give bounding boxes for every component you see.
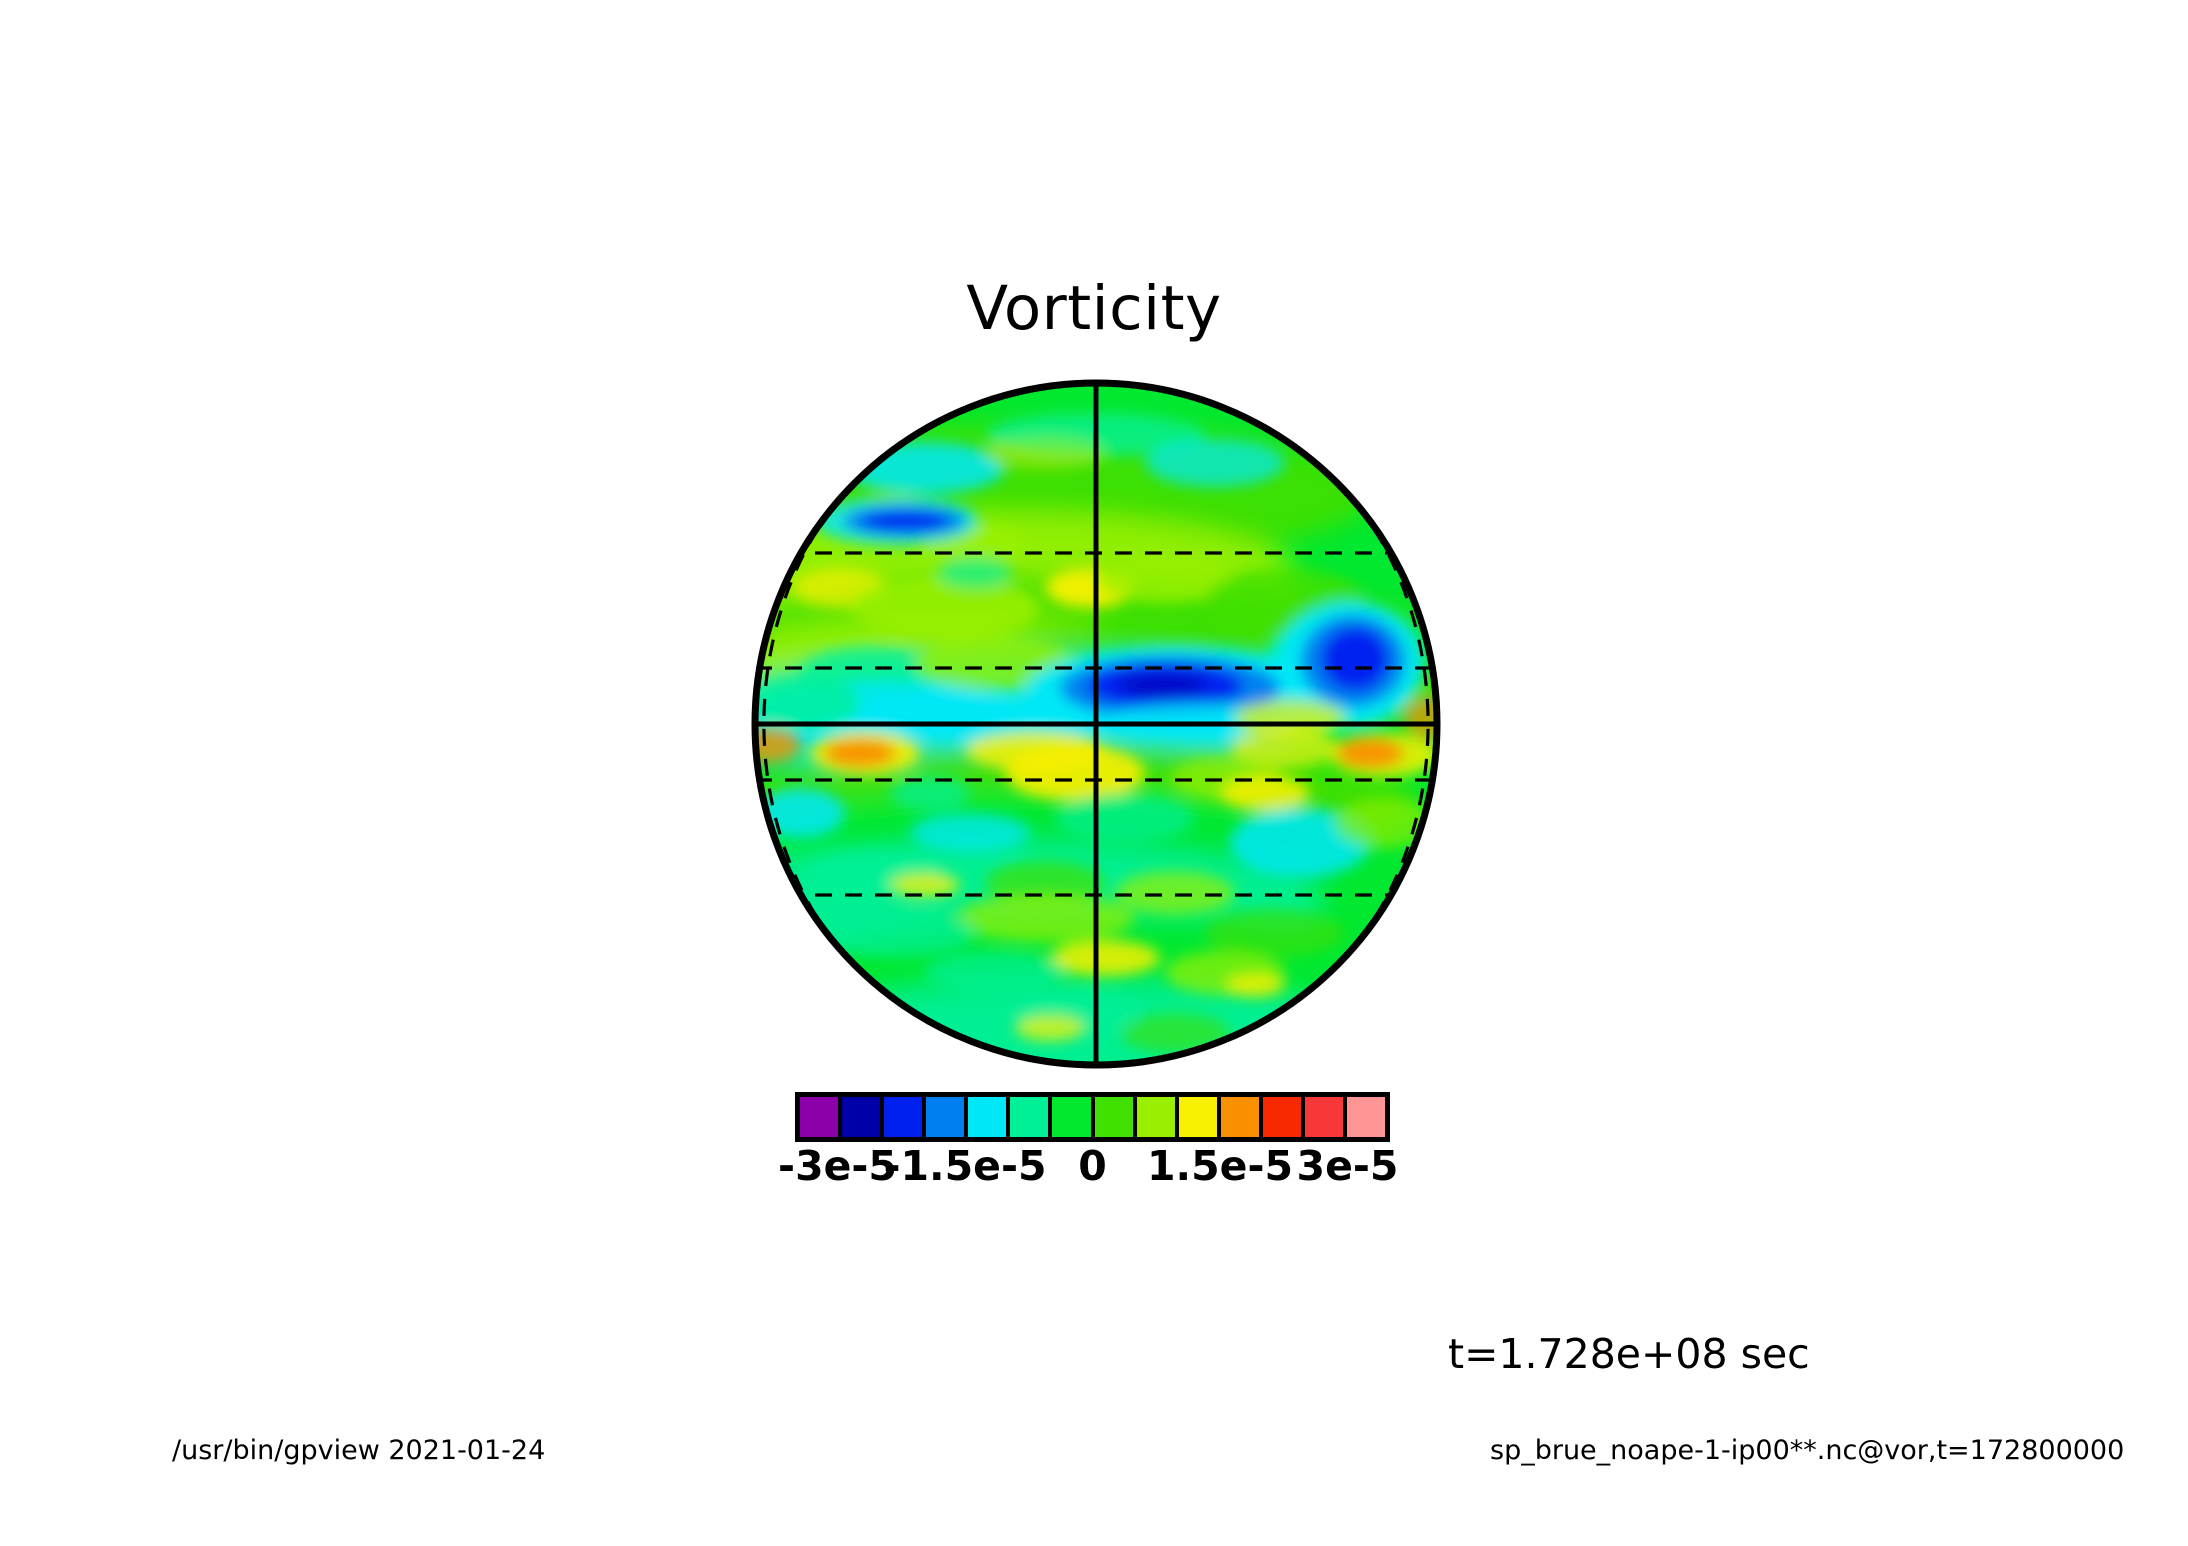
colorbar-swatch [1345,1097,1385,1137]
colorbar-swatch [800,1097,840,1137]
colorbar-swatches [795,1092,1390,1142]
colorbar-swatch [1093,1097,1135,1137]
footer-command: /usr/bin/gpview 2021-01-24 [172,1437,545,1464]
colorbar-swatch [840,1097,882,1137]
colorbar-tick-label: -1.5e-5 [884,1146,1047,1187]
colorbar-swatch [924,1097,966,1137]
page-title: Vorticity [0,278,2188,339]
colorbar-tick-label: 0 [1078,1146,1107,1187]
colorbar-swatch [1050,1097,1092,1137]
footer-dataset: sp_brue_noape-1-ip00**.nc@vor,t=17280000… [1490,1437,2124,1464]
colorbar-swatch [1177,1097,1219,1137]
colorbar-tick-labels: -3e-5-1.5e-501.5e-53e-5 [755,1146,1430,1196]
colorbar-tick-label: -3e-5 [778,1146,897,1187]
colorbar-tick-label: 1.5e-5 [1147,1146,1293,1187]
plot-page: Vorticity [0,0,2188,1546]
colorbar: -3e-5-1.5e-501.5e-53e-5 [795,1092,1395,1202]
colorbar-swatch [1008,1097,1050,1137]
colorbar-swatch [1219,1097,1261,1137]
colorbar-swatch [966,1097,1008,1137]
colorbar-swatch [882,1097,924,1137]
globe-icon [745,373,1447,1075]
time-annotation: t=1.728e+08 sec [1448,1334,1810,1375]
colorbar-swatch [1303,1097,1345,1137]
colorbar-swatch [1261,1097,1303,1137]
colorbar-swatch [1135,1097,1177,1137]
globe-map [745,373,1447,1075]
colorbar-tick-label: 3e-5 [1297,1146,1399,1187]
